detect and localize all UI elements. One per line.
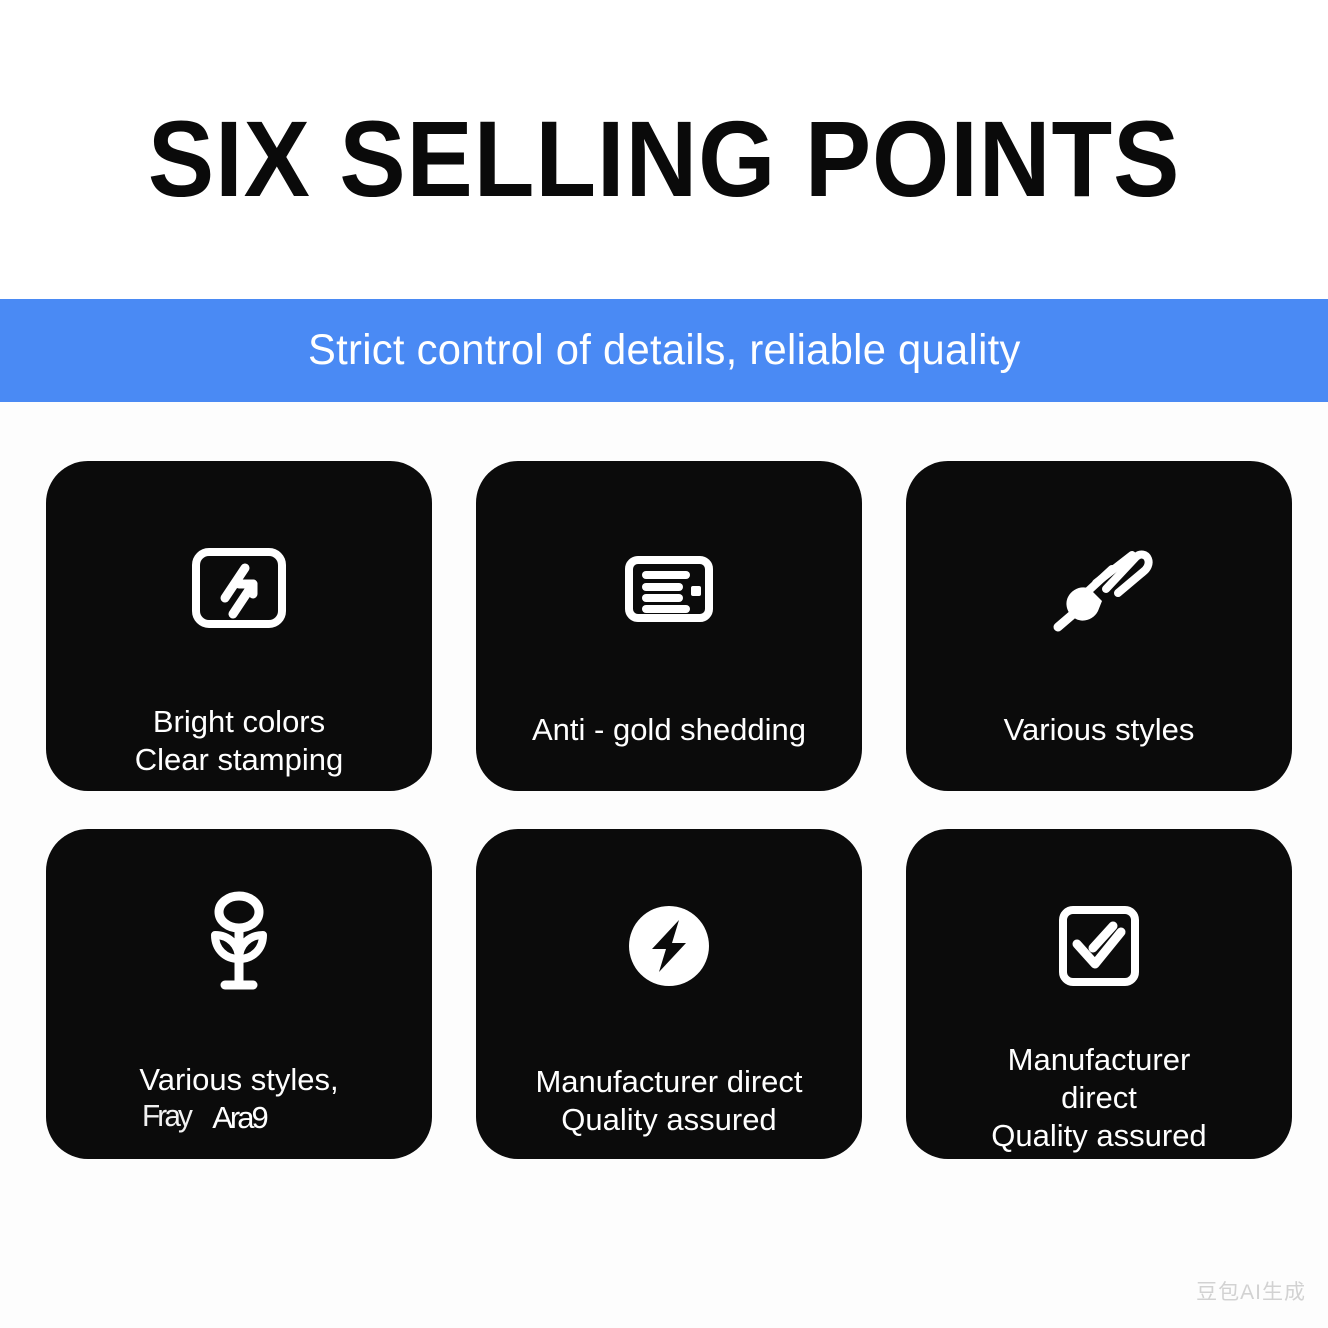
checkbox-check-icon: [906, 871, 1292, 1021]
rounded-square-slash-icon: [46, 513, 432, 663]
card-label-line: direct: [991, 1079, 1206, 1117]
card-label-glitched-line: Fray Ara9: [139, 1099, 338, 1137]
card-label-line: Clear stamping: [135, 741, 343, 779]
card-label: Various styles, Fray Ara9: [121, 1061, 356, 1137]
card-label: Various styles: [986, 711, 1213, 749]
selling-point-card[interactable]: Manufacturer direct Quality assured: [476, 829, 862, 1159]
plug-cable-icon: [906, 513, 1292, 663]
subtitle-banner: Strict control of details, reliable qual…: [0, 299, 1328, 402]
card-label-line: Quality assured: [535, 1101, 802, 1139]
card-label-line: Anti - gold shedding: [532, 711, 806, 749]
selling-point-card[interactable]: Anti - gold shedding: [476, 461, 862, 791]
infographic-page: SIX SELLING POINTS Strict control of det…: [0, 0, 1328, 1328]
glitch-back-layer: Fray: [142, 1097, 190, 1135]
page-title: SIX SELLING POINTS: [148, 105, 1180, 213]
flower-plant-icon: [46, 869, 432, 1019]
selling-point-card[interactable]: Bright colors Clear stamping: [46, 461, 432, 791]
card-label-line: Bright colors: [135, 703, 343, 741]
card-label: Manufacturer direct Quality assured: [973, 1041, 1224, 1154]
card-label: Manufacturer direct Quality assured: [517, 1063, 820, 1139]
selling-point-card[interactable]: Various styles, Fray Ara9: [46, 829, 432, 1159]
card-label: Anti - gold shedding: [514, 711, 824, 749]
title-section: SIX SELLING POINTS: [0, 0, 1328, 300]
glitch-front-layer: Ara9: [212, 1100, 265, 1135]
card-label-line: Quality assured: [991, 1117, 1206, 1155]
card-label-line: Various styles: [1004, 711, 1195, 749]
banner-subtitle: Strict control of details, reliable qual…: [308, 326, 1021, 375]
lightning-circle-icon: [476, 871, 862, 1021]
card-label-line: Various styles,: [139, 1061, 338, 1099]
document-lines-icon: [476, 513, 862, 663]
selling-points-grid: Bright colors Clear stamping Anti - gold…: [46, 461, 1286, 1159]
card-label: Bright colors Clear stamping: [117, 703, 361, 779]
ai-watermark: 豆包AI生成: [1196, 1276, 1306, 1306]
card-label-line: Manufacturer direct: [535, 1063, 802, 1101]
card-label-line: Manufacturer: [991, 1041, 1206, 1079]
selling-point-card[interactable]: Manufacturer direct Quality assured: [906, 829, 1292, 1159]
selling-point-card[interactable]: Various styles: [906, 461, 1292, 791]
